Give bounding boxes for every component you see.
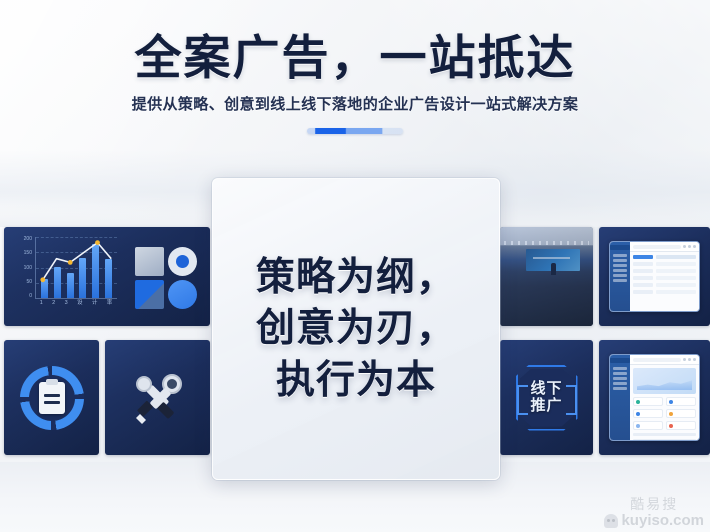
toolbar-icon[interactable] <box>688 245 691 248</box>
badge-line-1: 线下 <box>530 381 562 398</box>
table-row[interactable] <box>656 283 696 287</box>
badge-line-2: 推广 <box>530 398 562 415</box>
clipboard-line <box>44 401 60 404</box>
table-row[interactable] <box>656 269 696 273</box>
list-item[interactable] <box>633 255 653 259</box>
sidebar-item <box>613 372 627 375</box>
toolbar-icon[interactable] <box>683 245 686 248</box>
toolbar-icon[interactable] <box>693 358 696 361</box>
octagon-badge-frame: 线下 推广 <box>516 365 578 431</box>
stat-tiles <box>633 397 696 430</box>
table-row[interactable] <box>633 433 696 436</box>
watermark: 酷易搜 kuyiso.com <box>604 497 704 528</box>
chart-marker <box>40 277 45 282</box>
offline-promotion-panel: 线下 推广 <box>500 340 593 455</box>
x-tick: 2 <box>52 301 55 311</box>
analytics-toolbar <box>630 355 699 365</box>
design-tools-panel <box>105 340 210 455</box>
data-chart-panel: 200 150 100 50 0 123设计率 <box>4 227 210 326</box>
x-tick: 3 <box>65 301 68 311</box>
page-title: 全案广告，一站抵达 <box>0 0 710 82</box>
sidebar-item <box>613 254 627 257</box>
offline-badge-text: 线下 推广 <box>516 365 578 431</box>
x-tick: 1 <box>40 301 43 311</box>
audience-crowd <box>500 278 593 326</box>
sidebar-item <box>613 279 627 282</box>
sidebar-item <box>613 377 627 380</box>
analytics-content <box>630 355 699 440</box>
x-tick: 率 <box>107 301 113 311</box>
chart-line-series <box>36 237 118 299</box>
sparkline-area <box>637 378 692 390</box>
slogan-card: 策略为纲， 创意为刃， 执行为本 <box>212 178 500 480</box>
table-rows-column <box>656 255 696 297</box>
sidebar-item <box>613 264 627 267</box>
y-tick: 200 <box>24 237 32 242</box>
slogan-line-3: 执行为本 <box>256 355 456 406</box>
report-donut-panel <box>4 340 99 455</box>
analytics-rows <box>633 433 696 441</box>
search-input[interactable] <box>633 245 681 249</box>
chart-plot-area <box>35 237 117 299</box>
analytics-window <box>609 354 700 441</box>
stat-tile[interactable] <box>666 397 696 406</box>
conference-photo <box>500 227 593 326</box>
x-tick: 计 <box>92 301 98 311</box>
stat-tile[interactable] <box>633 421 663 430</box>
sidebar-logo <box>610 358 630 363</box>
slogan-text: 策略为纲， 创意为刃， 执行为本 <box>256 252 456 406</box>
sidebar-item <box>613 274 627 277</box>
dashboard-sidebar <box>610 242 630 311</box>
chart-x-axis: 123设计率 <box>35 301 117 311</box>
y-tick: 150 <box>24 251 32 256</box>
list-item[interactable] <box>633 290 653 294</box>
pen-and-magnifier-icon <box>122 362 194 434</box>
ghost-mascot-icon <box>604 514 618 528</box>
bar-line-chart: 200 150 100 50 0 123设计率 <box>12 237 120 317</box>
sidebar-item <box>613 269 627 272</box>
page-subtitle: 提供从策略、创意到线上线下落地的企业广告设计一站式解决方案 <box>0 82 710 114</box>
slogan-line-2: 创意为刃， <box>256 303 456 354</box>
sidebar-item <box>613 382 627 385</box>
ceiling-lights <box>504 241 590 245</box>
slogan-line-1: 策略为纲， <box>256 252 456 303</box>
toolbar-icon[interactable] <box>693 245 696 248</box>
list-item[interactable] <box>633 269 653 273</box>
stage-speaker <box>551 263 556 276</box>
stat-tile[interactable] <box>666 421 696 430</box>
dashboard-toolbar <box>630 242 699 252</box>
table-row[interactable] <box>656 290 696 294</box>
list-item[interactable] <box>633 276 653 280</box>
toolbar-icon[interactable] <box>683 358 686 361</box>
table-row[interactable] <box>633 439 696 441</box>
stat-tile[interactable] <box>633 397 663 406</box>
sidebar-item <box>613 367 627 370</box>
conference-photo-panel <box>500 227 593 326</box>
x-tick: 设 <box>77 301 83 311</box>
stat-tile[interactable] <box>633 409 663 418</box>
list-item[interactable] <box>633 283 653 287</box>
divider-bar <box>307 128 403 134</box>
analytics-body <box>630 365 699 441</box>
banner-header: 全案广告，一站抵达 提供从策略、创意到线上线下落地的企业广告设计一站式解决方案 <box>0 0 710 134</box>
trend-chart-card <box>633 368 696 394</box>
y-tick: 50 <box>26 280 32 285</box>
search-input[interactable] <box>633 358 681 362</box>
circle-blue-icon <box>168 280 197 309</box>
shapes-icon-grid <box>135 247 197 309</box>
dashboard-window <box>609 241 700 312</box>
analytics-sidebar <box>610 355 630 440</box>
sidebar-item <box>613 259 627 262</box>
table-filter-column <box>633 255 653 297</box>
dashboard-table-panel <box>599 227 710 326</box>
ring-target-icon <box>168 247 197 276</box>
list-item[interactable] <box>633 262 653 266</box>
chart-marker <box>68 260 73 265</box>
clipboard-icon <box>39 382 65 414</box>
promotional-banner: 全案广告，一站抵达 提供从策略、创意到线上线下落地的企业广告设计一站式解决方案 … <box>0 0 710 532</box>
dashboard-table <box>630 252 699 300</box>
chart-y-axis: 200 150 100 50 0 <box>12 237 32 299</box>
y-tick: 0 <box>29 294 32 299</box>
clipboard-line <box>44 394 60 397</box>
toolbar-icon[interactable] <box>688 358 691 361</box>
sidebar-logo <box>610 245 630 250</box>
table-row[interactable] <box>656 262 696 266</box>
square-blue-icon <box>135 280 164 309</box>
square-gray-icon <box>135 247 164 276</box>
dashboard-analytics-panel <box>599 340 710 455</box>
chart-marker <box>95 240 100 245</box>
table-row[interactable] <box>656 276 696 280</box>
stat-tile[interactable] <box>666 409 696 418</box>
sidebar-item <box>613 387 627 390</box>
watermark-cn-text: 酷易搜 <box>604 497 704 512</box>
watermark-url-row: kuyiso.com <box>604 513 704 528</box>
watermark-url-text: kuyiso.com <box>621 513 704 528</box>
dashboard-content <box>630 242 699 311</box>
table-header-row <box>656 255 696 259</box>
y-tick: 100 <box>24 266 32 271</box>
chart-line <box>43 243 111 280</box>
